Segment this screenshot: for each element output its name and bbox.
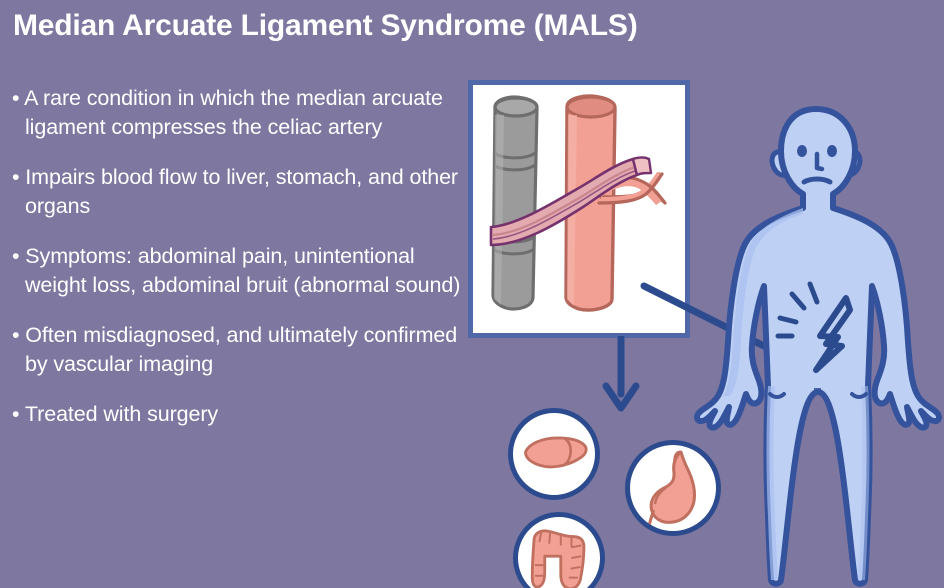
list-item: • A rare condition in which the median a… xyxy=(12,84,482,142)
panel-to-organs-down-arrow xyxy=(598,336,644,414)
human-body-silhouette xyxy=(690,96,944,588)
page-title: Median Arcuate Ligament Syndrome (MALS) xyxy=(13,6,833,46)
list-item: • Often misdiagnosed, and ultimately con… xyxy=(12,321,482,379)
stomach-icon xyxy=(625,440,721,536)
liver-icon xyxy=(508,408,600,500)
infographic-canvas: Median Arcuate Ligament Syndrome (MALS) … xyxy=(0,0,944,588)
liver-illustration xyxy=(513,413,595,495)
large-intestine-icon xyxy=(513,512,605,588)
spine-segment-tube xyxy=(493,97,537,309)
intestine-illustration xyxy=(518,517,600,588)
bullet-list: • A rare condition in which the median a… xyxy=(12,84,482,450)
list-item: • Treated with surgery xyxy=(12,400,482,429)
list-item: • Symptoms: abdominal pain, unintentiona… xyxy=(12,242,482,300)
navel xyxy=(814,388,821,394)
stomach-illustration xyxy=(630,445,716,531)
left-eye xyxy=(797,145,807,157)
right-eye xyxy=(827,145,837,157)
list-item: • Impairs blood flow to liver, stomach, … xyxy=(12,163,482,221)
